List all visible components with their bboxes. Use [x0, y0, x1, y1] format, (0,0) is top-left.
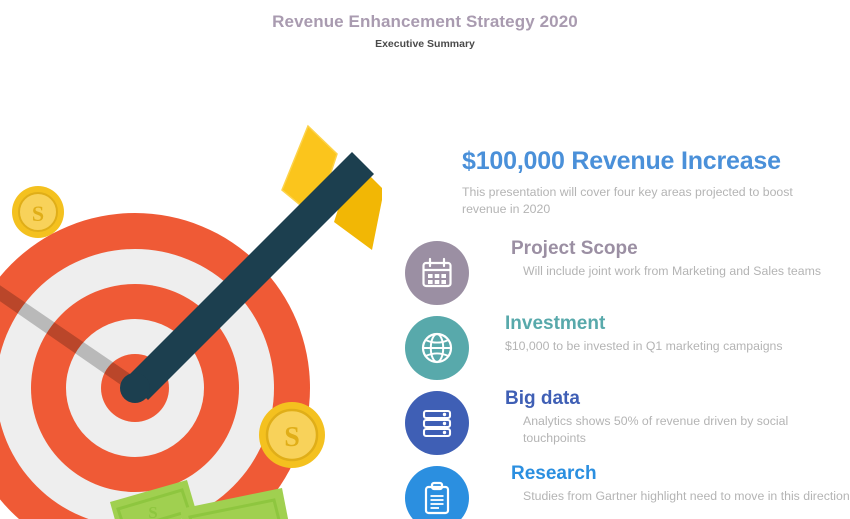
list-item-big-data[interactable]: Big data Analytics shows 50% of revenue … — [405, 388, 850, 463]
svg-text:S: S — [148, 503, 157, 519]
svg-text:S: S — [284, 422, 300, 453]
list-item-body: Project Scope Will include joint work fr… — [505, 238, 850, 280]
coin-icon-top: S — [12, 186, 64, 238]
key-areas-list: Project Scope Will include joint work fr… — [405, 238, 850, 519]
list-item-description: Will include joint work from Marketing a… — [505, 263, 850, 280]
list-item-body: Research Studies from Gartner highlight … — [505, 463, 850, 505]
page-subtitle: Executive Summary — [0, 38, 850, 50]
list-item-project-scope[interactable]: Project Scope Will include joint work fr… — [405, 238, 850, 313]
list-item-title: Investment — [505, 313, 850, 336]
coin-icon-bottom: S — [259, 402, 325, 468]
globe-icon — [405, 316, 469, 380]
list-item-description: Studies from Gartner highlight need to m… — [505, 488, 850, 505]
page-title: Revenue Enhancement Strategy 2020 — [0, 12, 850, 32]
hero-title: $100,000 Revenue Increase — [462, 148, 850, 176]
hero-subtitle: This presentation will cover four key ar… — [462, 184, 814, 219]
list-item-research[interactable]: Research Studies from Gartner highlight … — [405, 463, 850, 519]
list-item-title: Research — [505, 463, 850, 486]
list-item-description: Analytics shows 50% of revenue driven by… — [505, 413, 850, 447]
calendar-icon — [405, 241, 469, 305]
list-item-body: Big data Analytics shows 50% of revenue … — [505, 388, 850, 447]
slide: Revenue Enhancement Strategy 2020 Execut… — [0, 0, 850, 519]
list-item-title: Big data — [505, 388, 850, 411]
slide-header: Revenue Enhancement Strategy 2020 Execut… — [0, 0, 850, 50]
list-item-body: Investment $10,000 to be invested in Q1 … — [505, 313, 850, 355]
clipboard-icon — [405, 466, 469, 519]
list-item-description: $10,000 to be invested in Q1 marketing c… — [505, 338, 850, 355]
hero-block: $100,000 Revenue Increase This presentat… — [462, 148, 850, 218]
svg-text:S: S — [32, 201, 44, 226]
target-illustration: S S S — [0, 110, 382, 519]
list-item-title: Project Scope — [505, 238, 850, 261]
server-icon — [405, 391, 469, 455]
list-item-investment[interactable]: Investment $10,000 to be invested in Q1 … — [405, 313, 850, 388]
